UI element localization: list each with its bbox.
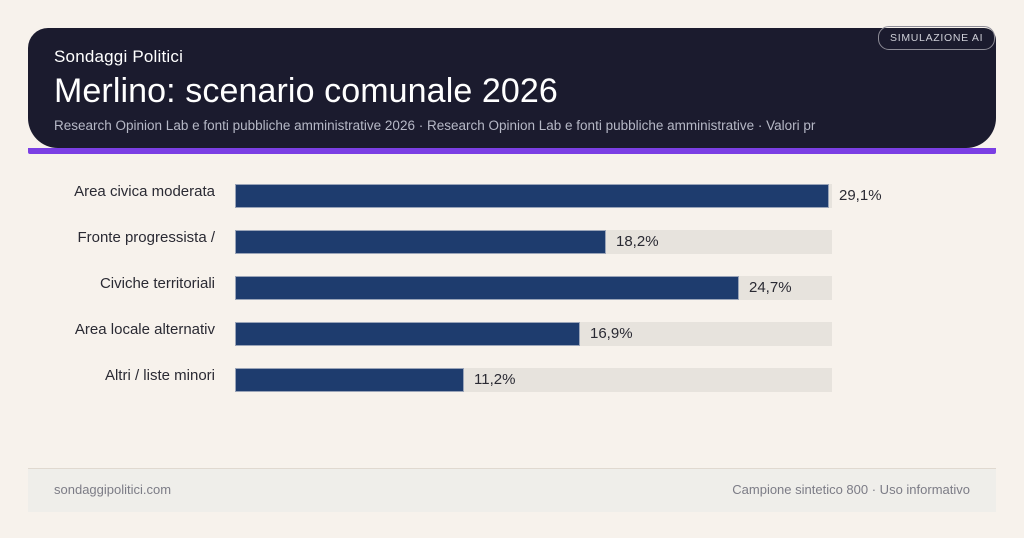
bar-category-label: Fronte progressista /: [0, 222, 215, 254]
bar-value-label: 18,2%: [606, 230, 659, 254]
header-card: Sondaggi Politici Merlino: scenario comu…: [28, 28, 996, 148]
bar-row: Fronte progressista /18,2%: [0, 222, 1024, 268]
bar-track: [235, 184, 832, 208]
bar-fill: [235, 230, 606, 254]
accent-bar: [28, 148, 996, 154]
bar-row: Area locale alternativ16,9%: [0, 314, 1024, 360]
bar-track: [235, 322, 832, 346]
bar-value-label: 16,9%: [580, 322, 633, 346]
bar-track: [235, 230, 832, 254]
bar-category-label: Civiche territoriali: [0, 268, 215, 300]
bar-category-label: Area civica moderata: [0, 176, 215, 208]
footer: sondaggipolitici.com Campione sintetico …: [28, 468, 996, 512]
header-subtitle: Research Opinion Lab e fonti pubbliche a…: [54, 116, 970, 136]
bar-value-label: 29,1%: [829, 184, 882, 208]
bar-fill: [235, 276, 739, 300]
bar-track: [235, 368, 832, 392]
bar-value-label: 11,2%: [464, 368, 515, 392]
status-badge: SIMULAZIONE AI: [878, 26, 995, 50]
bar-row: Altri / liste minori11,2%: [0, 360, 1024, 406]
bar-chart: Area civica moderata29,1%Fronte progress…: [0, 176, 1024, 406]
bar-fill: [235, 184, 829, 208]
page-title: Merlino: scenario comunale 2026: [54, 69, 970, 113]
footer-site-url: sondaggipolitici.com: [54, 482, 171, 497]
bar-fill: [235, 368, 464, 392]
bar-value-label: 24,7%: [739, 276, 792, 300]
bar-category-label: Altri / liste minori: [0, 360, 215, 392]
footer-sample-note: Campione sintetico 800 · Uso informativo: [732, 482, 970, 497]
poll-card: Sondaggi Politici Merlino: scenario comu…: [0, 0, 1024, 538]
bar-row: Civiche territoriali24,7%: [0, 268, 1024, 314]
brand-kicker: Sondaggi Politici: [54, 46, 970, 68]
bar-category-label: Area locale alternativ: [0, 314, 215, 346]
bar-row: Area civica moderata29,1%: [0, 176, 1024, 222]
bar-fill: [235, 322, 580, 346]
